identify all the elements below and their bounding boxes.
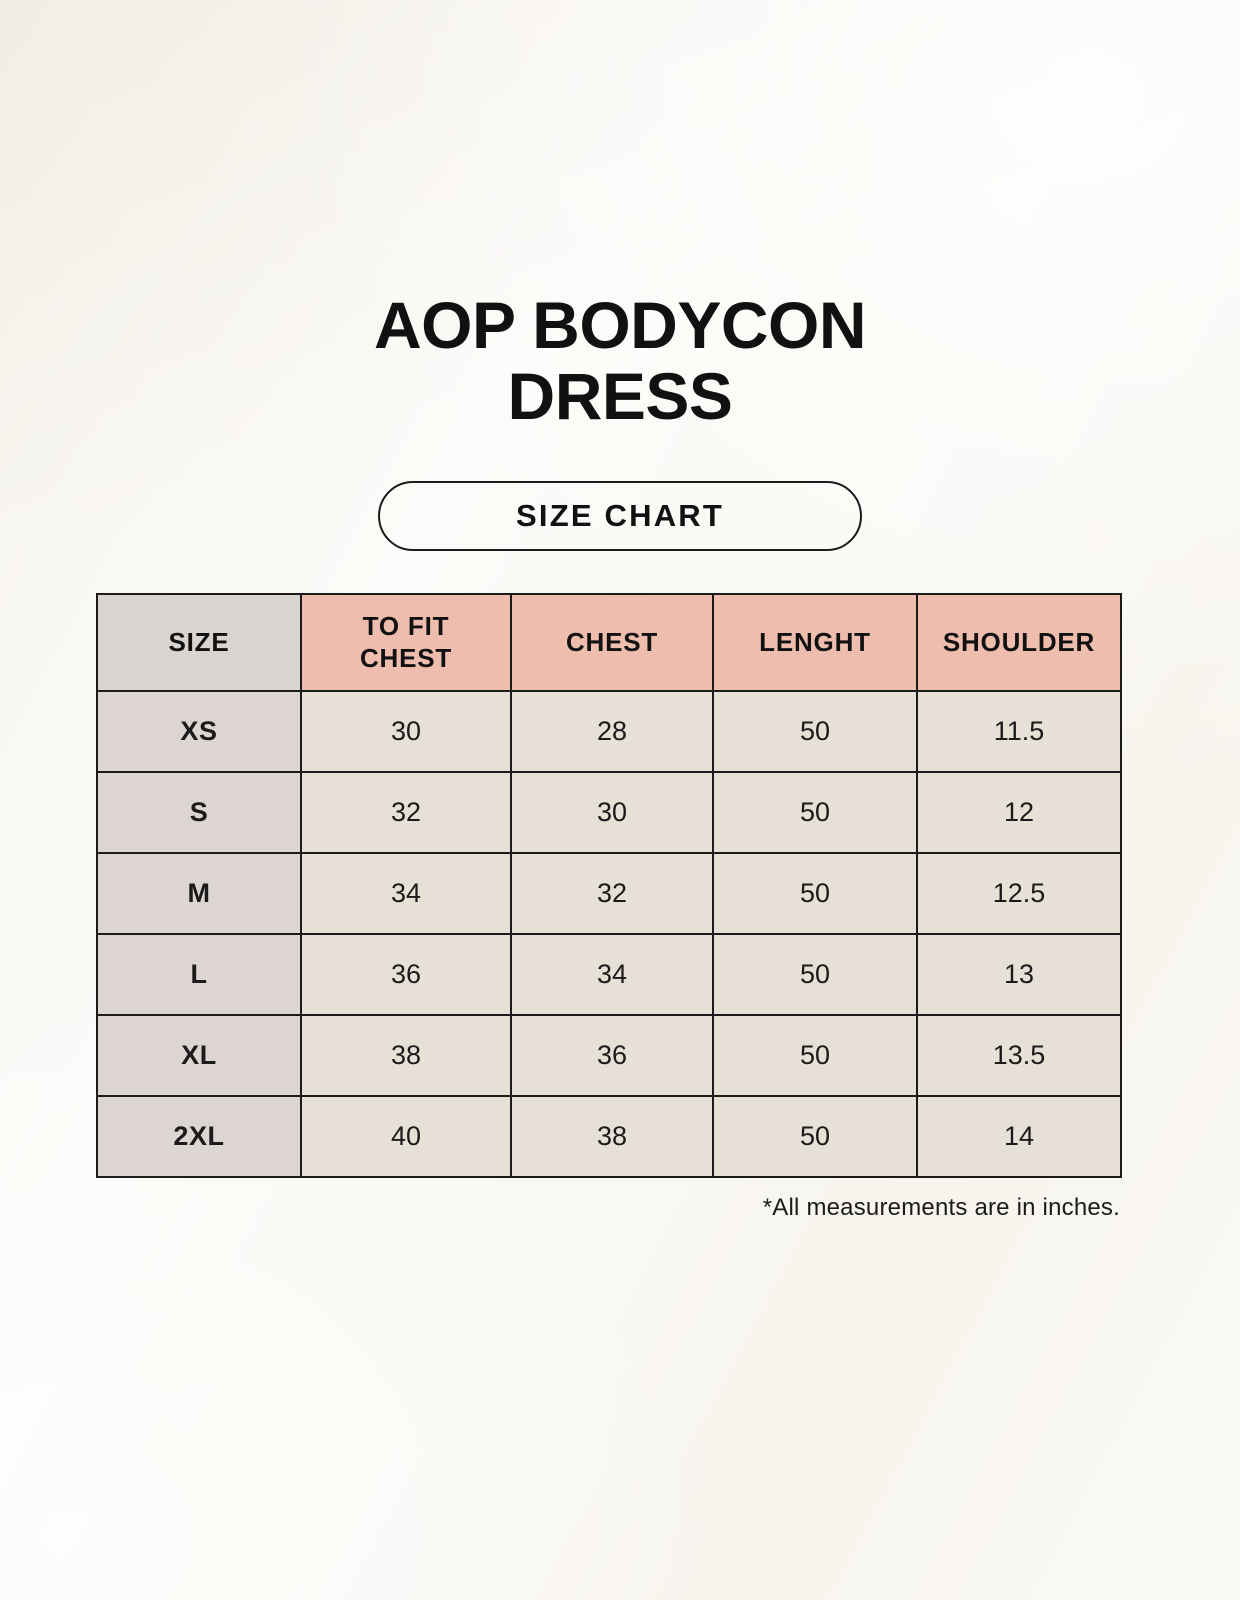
size-table-container: SIZE TO FIT CHEST CHEST LENGHT SHOULDER [96, 593, 1120, 1178]
cell-to-fit-chest: 30 [301, 691, 511, 772]
cell-shoulder: 13.5 [917, 1015, 1121, 1096]
size-chart-badge: SIZE CHART [378, 481, 862, 551]
cell-to-fit-chest: 36 [301, 934, 511, 1015]
size-chart-table: SIZE TO FIT CHEST CHEST LENGHT SHOULDER [96, 593, 1122, 1178]
cell-to-fit-chest: 40 [301, 1096, 511, 1177]
cell-chest: 28 [511, 691, 713, 772]
cell-size: S [97, 772, 301, 853]
page-title-line-2: DRESS [508, 359, 733, 433]
table-body: XS 30 28 50 11.5 S 32 30 50 12 M 34 32 [97, 691, 1121, 1177]
table-row: XS 30 28 50 11.5 [97, 691, 1121, 772]
cell-size: XL [97, 1015, 301, 1096]
column-header-size: SIZE [97, 594, 301, 691]
cell-shoulder: 11.5 [917, 691, 1121, 772]
column-header-to-fit-chest-line-1: TO FIT [363, 611, 450, 641]
cell-shoulder: 14 [917, 1096, 1121, 1177]
cell-chest: 32 [511, 853, 713, 934]
cell-size: 2XL [97, 1096, 301, 1177]
cell-lenght: 50 [713, 853, 917, 934]
cell-lenght: 50 [713, 691, 917, 772]
column-header-chest: CHEST [511, 594, 713, 691]
table-row: M 34 32 50 12.5 [97, 853, 1121, 934]
column-header-lenght-label: LENGHT [759, 627, 871, 657]
cell-lenght: 50 [713, 1096, 917, 1177]
size-chart-page: AOP BODYCON DRESS SIZE CHART SIZE TO FIT [0, 0, 1240, 1600]
cell-to-fit-chest: 32 [301, 772, 511, 853]
column-header-to-fit-chest: TO FIT CHEST [301, 594, 511, 691]
cell-size: M [97, 853, 301, 934]
cell-lenght: 50 [713, 934, 917, 1015]
cell-shoulder: 13 [917, 934, 1121, 1015]
cell-lenght: 50 [713, 772, 917, 853]
cell-to-fit-chest: 38 [301, 1015, 511, 1096]
column-header-chest-label: CHEST [566, 627, 658, 657]
table-row: 2XL 40 38 50 14 [97, 1096, 1121, 1177]
cell-shoulder: 12 [917, 772, 1121, 853]
cell-chest: 36 [511, 1015, 713, 1096]
page-title-line-1: AOP BODYCON [374, 288, 866, 362]
cell-size: L [97, 934, 301, 1015]
column-header-shoulder-label: SHOULDER [943, 627, 1095, 657]
column-header-size-label: SIZE [169, 627, 230, 657]
cell-lenght: 50 [713, 1015, 917, 1096]
cell-to-fit-chest: 34 [301, 853, 511, 934]
table-row: XL 38 36 50 13.5 [97, 1015, 1121, 1096]
table-header-row: SIZE TO FIT CHEST CHEST LENGHT SHOULDER [97, 594, 1121, 691]
table-row: L 36 34 50 13 [97, 934, 1121, 1015]
column-header-lenght: LENGHT [713, 594, 917, 691]
cell-chest: 30 [511, 772, 713, 853]
page-title: AOP BODYCON DRESS [0, 290, 1240, 433]
column-header-to-fit-chest-line-2: CHEST [360, 643, 452, 673]
cell-chest: 38 [511, 1096, 713, 1177]
measurements-footnote: *All measurements are in inches. [96, 1194, 1120, 1222]
cell-size: XS [97, 691, 301, 772]
cell-chest: 34 [511, 934, 713, 1015]
size-chart-badge-container: SIZE CHART [0, 481, 1240, 551]
table-header: SIZE TO FIT CHEST CHEST LENGHT SHOULDER [97, 594, 1121, 691]
column-header-shoulder: SHOULDER [917, 594, 1121, 691]
table-row: S 32 30 50 12 [97, 772, 1121, 853]
cell-shoulder: 12.5 [917, 853, 1121, 934]
